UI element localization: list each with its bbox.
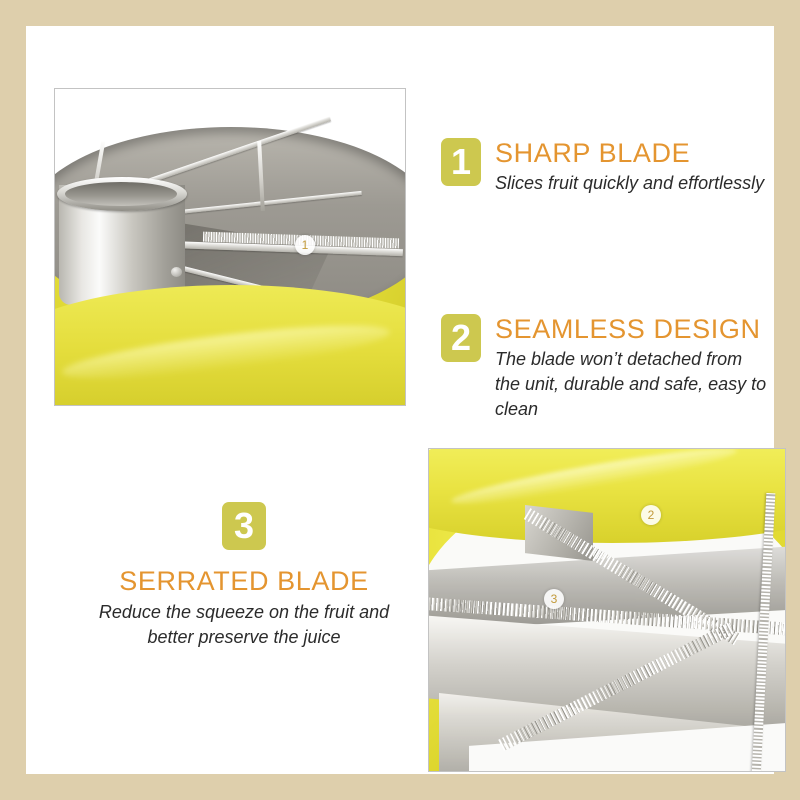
feature-description: Reduce the squeeze on the fruit and bett… [84,600,404,650]
product-photo-serrated-blade: 2 3 [428,448,786,772]
feature-number-badge: 2 [441,314,481,362]
photo-callout-1: 1 [295,235,315,255]
slicer-core-opening [65,182,177,206]
feature-block-seamless-design: 2 SEAMLESS DESIGN The blade won’t detach… [441,314,767,422]
feature-text-group: SEAMLESS DESIGN The blade won’t detached… [495,314,767,422]
product-infographic: 1 2 3 [0,0,800,800]
feature-text-group: SHARP BLADE Slices fruit quickly and eff… [495,138,764,196]
slicer-rivet [171,267,182,277]
photo-callout-3: 3 [544,589,564,609]
feature-description: The blade won’t detached from the unit, … [495,347,767,422]
feature-title: SHARP BLADE [495,138,764,168]
feature-number-badge: 3 [222,502,266,550]
infographic-canvas: 1 2 3 [26,26,774,774]
feature-block-serrated-blade: 3 SERRATED BLADE Reduce the squeeze on t… [84,502,404,650]
feature-row: 2 SEAMLESS DESIGN The blade won’t detach… [441,314,767,422]
feature-description: Slices fruit quickly and effortlessly [495,171,764,196]
photo-stage-1: 1 [55,89,405,405]
feature-number-badge: 1 [441,138,481,186]
feature-block-sharp-blade: 1 SHARP BLADE Slices fruit quickly and e… [441,138,764,196]
photo-callout-2: 2 [641,505,661,525]
product-photo-sharp-blade: 1 [54,88,406,406]
feature-row: 1 SHARP BLADE Slices fruit quickly and e… [441,138,764,196]
feature-title: SERRATED BLADE [84,566,404,596]
feature-title: SEAMLESS DESIGN [495,314,767,344]
photo-stage-2: 2 3 [429,449,785,771]
